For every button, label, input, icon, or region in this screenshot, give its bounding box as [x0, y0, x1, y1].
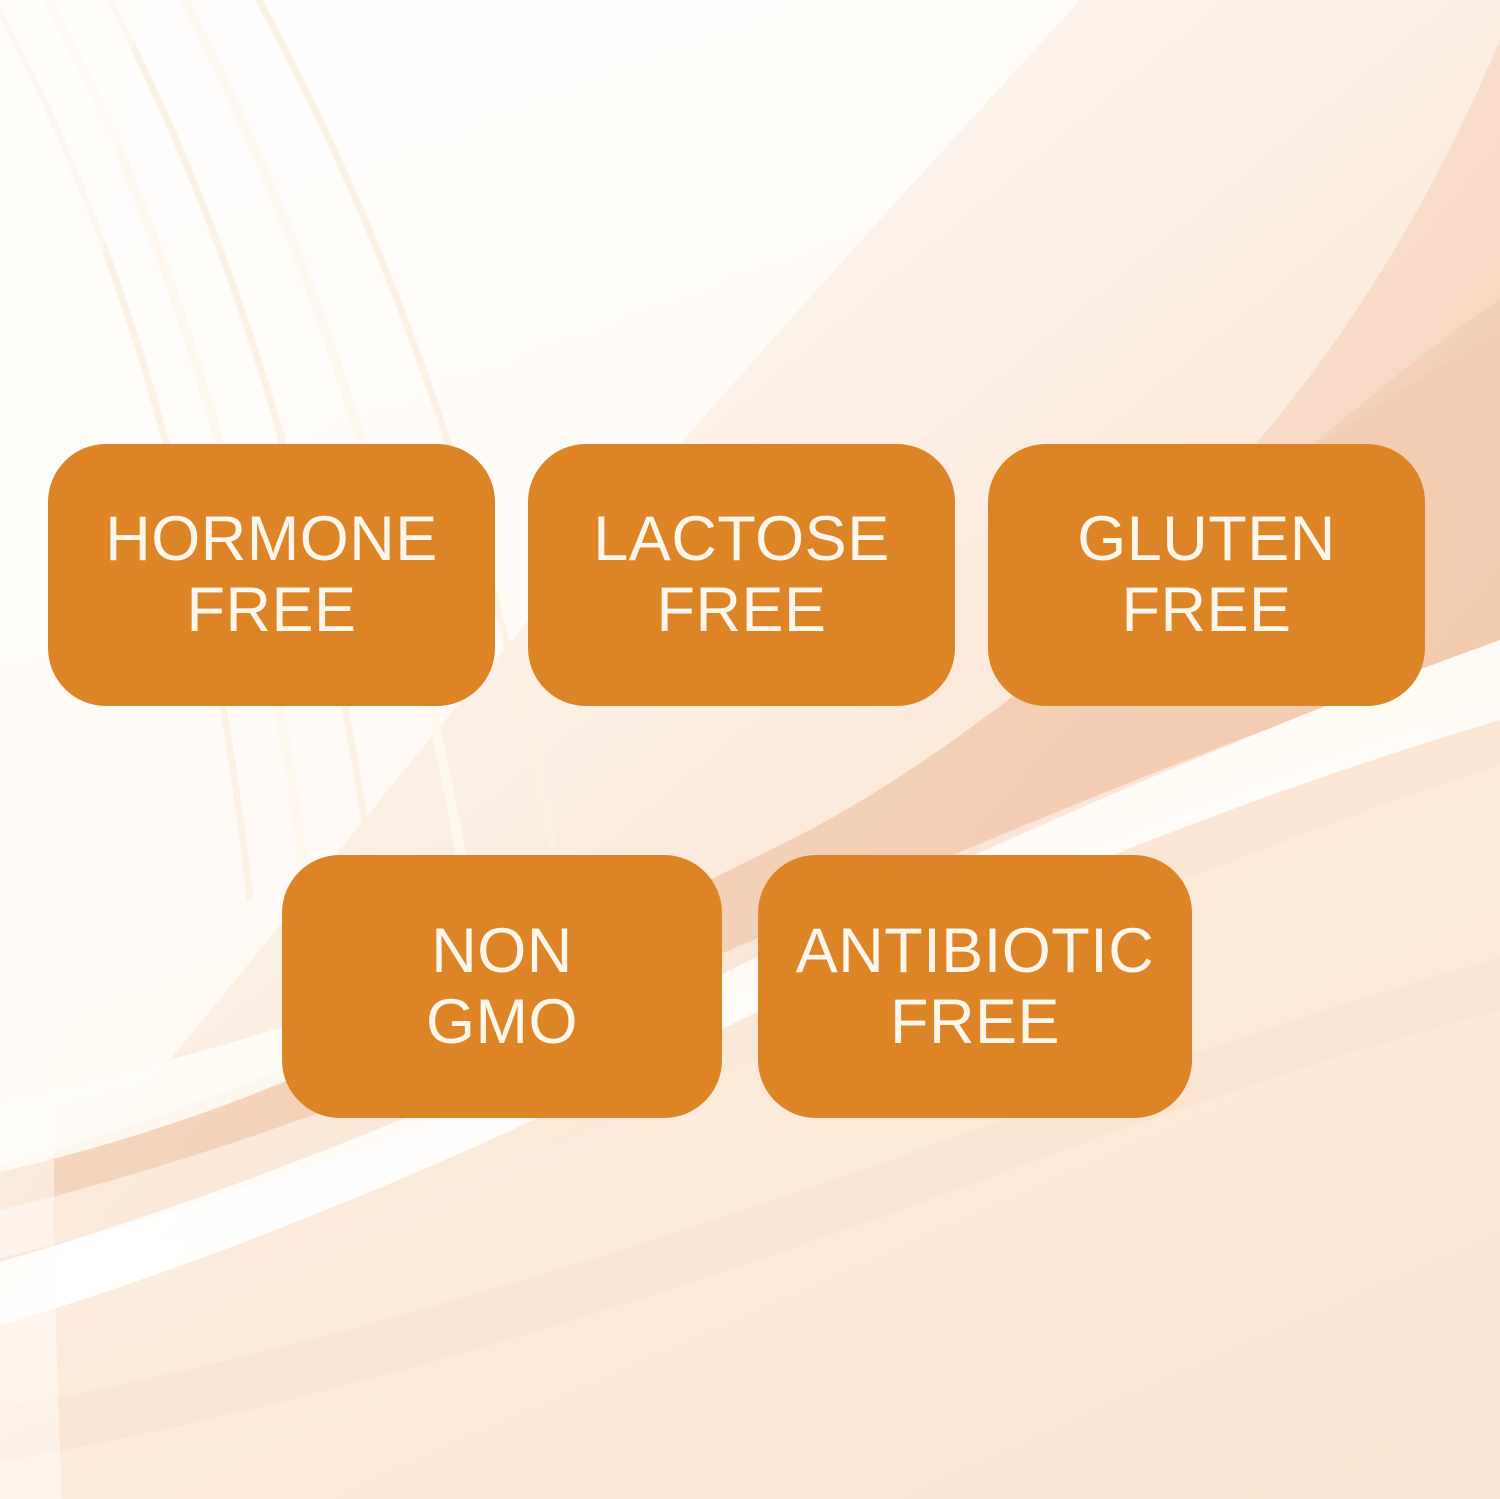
- badge-line-1: NON: [431, 920, 573, 983]
- badge-antibiotic-free[interactable]: ANTIBIOTIC FREE: [758, 855, 1192, 1118]
- badge-hormone-free[interactable]: HORMONE FREE: [48, 444, 495, 706]
- badge-line-2: FREE: [1121, 579, 1291, 642]
- badge-line-1: ANTIBIOTIC: [796, 920, 1155, 983]
- badge-line-2: FREE: [890, 991, 1060, 1054]
- badge-line-2: FREE: [656, 579, 826, 642]
- badge-line-1: GLUTEN: [1077, 508, 1336, 571]
- badge-line-2: FREE: [186, 579, 356, 642]
- badge-line-1: HORMONE: [105, 508, 438, 571]
- badge-lactose-free[interactable]: LACTOSE FREE: [528, 444, 955, 706]
- product-claims-graphic: HORMONE FREE LACTOSE FREE GLUTEN FREE NO…: [0, 0, 1500, 1499]
- claim-badge-grid: HORMONE FREE LACTOSE FREE GLUTEN FREE NO…: [0, 0, 1500, 1499]
- badge-line-2: GMO: [426, 991, 578, 1054]
- badge-gluten-free[interactable]: GLUTEN FREE: [988, 444, 1425, 706]
- badge-non-gmo[interactable]: NON GMO: [282, 855, 722, 1118]
- badge-line-1: LACTOSE: [593, 508, 889, 571]
